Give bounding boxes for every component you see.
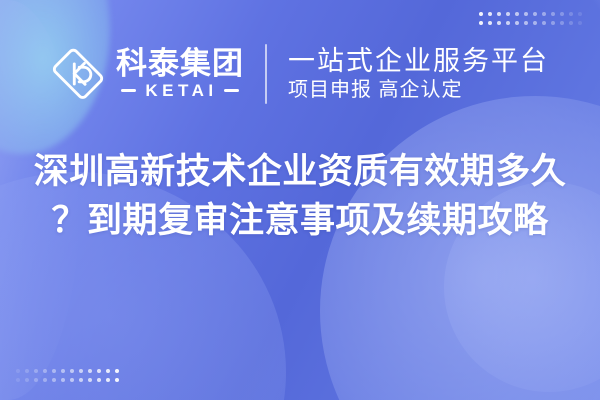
dot [61,378,65,382]
dot [16,378,20,382]
dot [542,12,546,16]
dot [542,21,546,25]
dot-row [479,21,582,25]
dot [515,21,519,25]
dot [506,21,510,25]
dot [88,378,92,382]
dot [97,369,101,373]
dot [70,369,74,373]
dot [488,12,492,16]
tagline-main: 一站式企业服务平台 [288,47,549,75]
dot-row [16,369,119,373]
dot [52,369,56,373]
dot [506,12,510,16]
dot [524,21,528,25]
dot-grid-top-right [479,12,582,25]
brand-rule-right-icon [224,89,239,92]
promo-banner: 科泰集团 KETAI 一站式企业服务平台 项目申报 高企认定 深圳高新技术企业资… [0,0,600,400]
dot [34,369,38,373]
dot-grid-bottom-left [16,369,119,382]
dot [551,12,555,16]
dot [115,378,119,382]
dot [43,369,47,373]
dot [43,378,47,382]
dot [115,369,119,373]
dot [569,12,573,16]
dot [560,12,564,16]
dot [79,378,83,382]
dot [25,378,29,382]
dot [97,378,101,382]
dot [533,21,537,25]
tagline-block: 一站式企业服务平台 项目申报 高企认定 [288,47,549,101]
dot [52,378,56,382]
dot [25,369,29,373]
dot [497,12,501,16]
title-line-2: ？到期复审注意事项及续期攻略 [51,199,548,244]
dot [479,21,483,25]
title-line-1: 深圳高新技术企业资质有效期多久 [34,150,567,195]
dot [569,21,573,25]
dot [578,12,582,16]
brand-name-en: KETAI [142,82,217,99]
dot [61,369,65,373]
dot [106,369,110,373]
dot [79,369,83,373]
vertical-divider [265,44,267,104]
dot [34,378,38,382]
dot-row [479,12,582,16]
dot [524,12,528,16]
dot [533,12,537,16]
right-disc-shape [320,96,600,400]
brand-name-en-row: KETAI [121,82,238,99]
dot [479,12,483,16]
dot [88,369,92,373]
brand-rule-left-icon [121,89,136,92]
dot [106,378,110,382]
dot [578,21,582,25]
ketai-diamond-monogram-icon [51,47,105,101]
banner-header: 科泰集团 KETAI 一站式企业服务平台 项目申报 高企认定 [0,38,600,110]
brand-wordmark: 科泰集团 KETAI [116,49,244,99]
dot [16,369,20,373]
dot [560,21,564,25]
dot [551,21,555,25]
brand-lockup: 科泰集团 KETAI [51,47,244,101]
dot-row [16,378,119,382]
dot [70,378,74,382]
banner-title: 深圳高新技术企业资质有效期多久 ？到期复审注意事项及续期攻略 [0,150,600,244]
tagline-sub: 项目申报 高企认定 [288,80,549,101]
dot [515,12,519,16]
dot [497,21,501,25]
brand-name-cn: 科泰集团 [116,49,244,80]
dot [488,21,492,25]
